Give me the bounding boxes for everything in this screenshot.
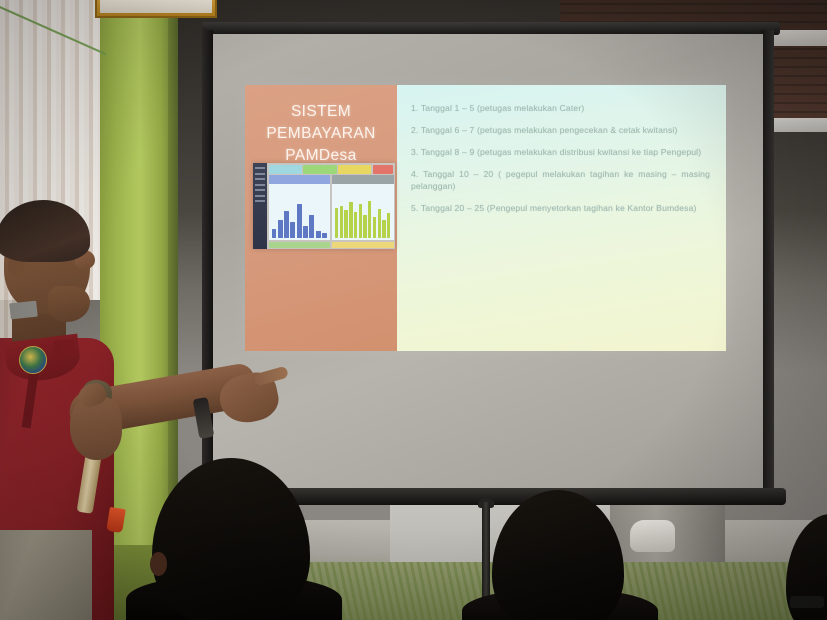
presentation-photo: SISTEM PEMBAYARAN PAMDesa [0,0,827,620]
kpi-card-red [373,165,394,174]
chart-left-header [269,175,331,184]
chart-bar [340,206,343,238]
chart-bar [387,213,390,238]
gold-picture-frame [95,0,217,18]
kpi-card-green [303,165,336,174]
chart-bar [316,231,321,238]
chart-bar [373,217,376,238]
picture-frame-inner [100,0,212,13]
dashboard-chart-right [332,175,394,240]
chart-bar [368,201,371,238]
chart-bar [382,220,385,238]
presenter-trousers [0,530,92,620]
footer-card-yellow [332,242,394,248]
chart-bar [322,233,327,238]
kpi-card-yellow [338,165,371,174]
slide-list-item: 4. Tanggal 10 – 20 ( pegepul melakukan t… [411,168,710,193]
slide-title: SISTEM PEMBAYARAN PAMDesa [245,101,397,167]
chart-bar [363,215,366,238]
chart-right-header [332,175,394,184]
chart-bar [297,204,302,238]
audience-ear-1 [150,552,167,576]
presenter-chin [48,286,90,322]
audience-glasses-3 [790,596,824,608]
slide-content-panel: 1. Tanggal 1 – 5 (petugas melakukan Cate… [397,85,726,351]
dashboard-kpi-row [267,163,395,175]
chart-bar [378,209,381,238]
dashboard-main [267,163,395,249]
chart-bar [354,212,357,238]
slide-title-line-2: PEMBAYARAN [245,123,397,145]
slide-list-item: 3. Tanggal 8 – 9 (petugas melakukan dist… [411,146,710,158]
projection-screen: SISTEM PEMBAYARAN PAMDesa [196,22,786,502]
presenter-name-tag [9,301,38,320]
chart-bar [335,208,338,238]
slide-title-line-1: SISTEM [245,101,397,123]
slide-list-item: 2. Tanggal 6 – 7 (petugas melakukan peng… [411,124,710,136]
chart-bar [309,215,314,238]
slide-list-item: 1. Tanggal 1 – 5 (petugas melakukan Cate… [411,102,710,114]
background-white-sack [630,520,675,552]
kpi-card-cyan [269,165,302,174]
presenter-microphone-hand [70,396,122,460]
chart-bar [284,211,289,238]
dashboard-footer-row [267,242,395,249]
microphone-tip [106,507,126,533]
chart-bar [344,210,347,238]
dashboard-chart-row [267,175,395,242]
slide-list-item: 5. Tanggal 20 – 25 (Pengepul menyetorkan… [411,202,710,214]
chart-bar [303,226,308,238]
chart-bar [290,222,295,238]
presenter-shirt-pocket [53,339,76,356]
projected-slide: SISTEM PEMBAYARAN PAMDesa [245,85,726,351]
chart-bar [359,204,362,238]
presenter-emblem-patch [19,346,47,374]
chart-right-bars [332,184,394,240]
chart-bar [349,202,352,238]
presenter-hair [0,200,90,262]
